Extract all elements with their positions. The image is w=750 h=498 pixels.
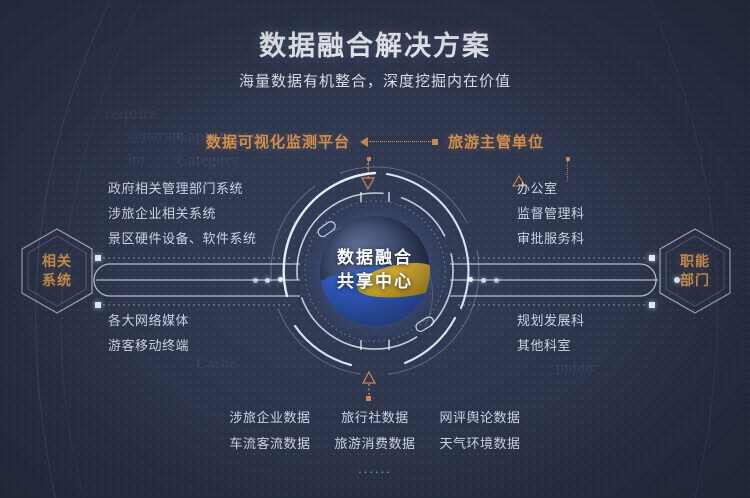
left-top-item-list: 政府相关管理部门系统 涉旅企业相关系统 景区硬件设备、软件系统 [108, 176, 257, 251]
bottom-row-2: 车流客流数据 旅游消费数据 天气环境数据 [218, 431, 533, 457]
grid-item[interactable]: 旅游消费数据 [323, 431, 428, 457]
endpoint-dot-left-bottom [95, 302, 101, 308]
endpoint-dot-left-top [95, 255, 101, 261]
list-item[interactable]: 其他科室 [517, 333, 585, 358]
center-hub: 数据融合 共享中心 [265, 158, 485, 388]
endpoint-dot-right-mid [674, 277, 680, 283]
flow-dot-right-3 [494, 278, 499, 283]
infographic-canvas: require Capture.java Category Random @pa… [0, 0, 750, 498]
list-item[interactable]: 政府相关管理部门系统 [108, 176, 257, 201]
list-item[interactable]: 涉旅企业相关系统 [108, 201, 257, 226]
list-item[interactable]: 监督管理科 [517, 201, 585, 226]
center-line-1: 数据融合 [265, 246, 485, 270]
list-item[interactable]: 景区硬件设备、软件系统 [108, 226, 257, 251]
center-hub-label: 数据融合 共享中心 [265, 246, 485, 294]
list-item[interactable]: 规划发展科 [517, 308, 585, 333]
bottom-data-grid: 涉旅企业数据 旅行社数据 网评舆论数据 车流客流数据 旅游消费数据 天气环境数据… [0, 405, 750, 479]
right-bottom-item-list: 规划发展科 其他科室 [517, 308, 585, 358]
right-top-item-list: 办公室 监督管理科 审批服务科 [517, 176, 585, 251]
bottom-row-1: 涉旅企业数据 旅行社数据 网评舆论数据 [218, 405, 533, 431]
grid-item[interactable]: 天气环境数据 [428, 431, 533, 457]
grid-item[interactable]: 网评舆论数据 [428, 405, 533, 431]
grid-item[interactable]: 涉旅企业数据 [218, 405, 323, 431]
left-bottom-item-list: 各大网络媒体 游客移动终端 [108, 308, 189, 358]
flow-dot-left-3 [253, 278, 258, 283]
endpoint-dot-right-bottom [649, 302, 655, 308]
grid-item[interactable]: 车流客流数据 [218, 431, 323, 457]
ellipsis-label: ...... [358, 459, 392, 479]
list-item[interactable]: 游客移动终端 [108, 333, 189, 358]
list-item[interactable]: 各大网络媒体 [108, 308, 189, 333]
endpoint-dot-right-top [649, 255, 655, 261]
list-item[interactable]: 办公室 [517, 176, 585, 201]
grid-item[interactable]: 旅行社数据 [323, 405, 428, 431]
center-line-2: 共享中心 [265, 270, 485, 294]
list-item[interactable]: 审批服务科 [517, 226, 585, 251]
